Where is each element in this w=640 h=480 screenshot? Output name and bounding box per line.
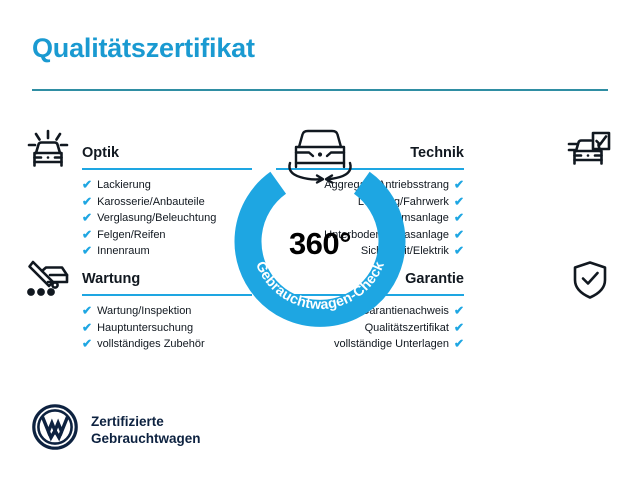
list-item: ✔Felgen/Reifen [82, 227, 252, 244]
list-item-label: vollständiges Zubehör [97, 336, 205, 353]
checklist-wartung: ✔Wartung/Inspektion ✔Hauptuntersuchung ✔… [82, 303, 252, 353]
list-item: ✔Verglasung/Beleuchtung [82, 210, 252, 227]
shield-check-icon [572, 260, 608, 305]
list-item-label: Felgen/Reifen [97, 227, 166, 244]
section-title: Wartung [82, 270, 252, 288]
list-item-label: vollständige Unterlagen [334, 336, 449, 353]
list-item-label: Wartung/Inspektion [97, 303, 191, 320]
check-icon: ✔ [82, 212, 92, 224]
check-icon: ✔ [82, 179, 92, 191]
list-item-label: Hauptuntersuchung [97, 320, 193, 337]
section-header: Optik [82, 144, 252, 170]
list-item-label: Verglasung/Beleuchtung [97, 210, 216, 227]
check-icon: ✔ [82, 245, 92, 257]
section-rule [82, 294, 252, 297]
list-item: ✔Innenraum [82, 243, 252, 260]
list-item: ✔Lackierung [82, 177, 252, 194]
car-rotation-icon [276, 121, 364, 192]
check-icon: ✔ [454, 245, 464, 257]
car-polish-icon [26, 129, 70, 174]
list-item-label: Lackierung [97, 177, 151, 194]
check-icon: ✔ [82, 305, 92, 317]
section-header: Wartung [82, 270, 252, 296]
checklist-optik: ✔Lackierung ✔Karosserie/Anbauteile ✔Verg… [82, 177, 252, 260]
check-icon: ✔ [454, 305, 464, 317]
list-item: ✔Hauptuntersuchung [82, 320, 252, 337]
footer-logo: Zertifizierte Gebrauchtwagen [32, 404, 201, 455]
section-wartung: Wartung ✔Wartung/Inspektion ✔Hauptunters… [82, 270, 252, 353]
section-optik: Optik ✔Lackierung ✔Karosserie/Anbauteile… [82, 144, 252, 260]
car-checkbox-icon [567, 131, 611, 174]
section-rule [82, 168, 252, 171]
list-item: ✔vollständiges Zubehör [82, 336, 252, 353]
title-divider [32, 89, 608, 91]
vw-logo-icon [32, 404, 78, 455]
check-icon: ✔ [454, 212, 464, 224]
list-item-label: Karosserie/Anbauteile [97, 194, 205, 211]
check-icon: ✔ [454, 195, 464, 207]
list-item: ✔Wartung/Inspektion [82, 303, 252, 320]
check-icon: ✔ [454, 338, 464, 350]
check-icon: ✔ [82, 195, 92, 207]
page-title: Qualitätszertifikat [32, 33, 255, 64]
list-item-label: Innenraum [97, 243, 150, 260]
wrench-car-service-icon [26, 258, 70, 301]
check-icon: ✔ [454, 179, 464, 191]
footer-label: Zertifizierte Gebrauchtwagen [91, 413, 201, 447]
check-icon: ✔ [82, 228, 92, 240]
check-icon: ✔ [82, 321, 92, 333]
check-icon: ✔ [454, 228, 464, 240]
check-icon: ✔ [454, 321, 464, 333]
list-item: vollständige Unterlagen✔ [276, 336, 464, 353]
section-title: Optik [82, 144, 252, 162]
check-icon: ✔ [82, 338, 92, 350]
list-item: ✔Karosserie/Anbauteile [82, 194, 252, 211]
